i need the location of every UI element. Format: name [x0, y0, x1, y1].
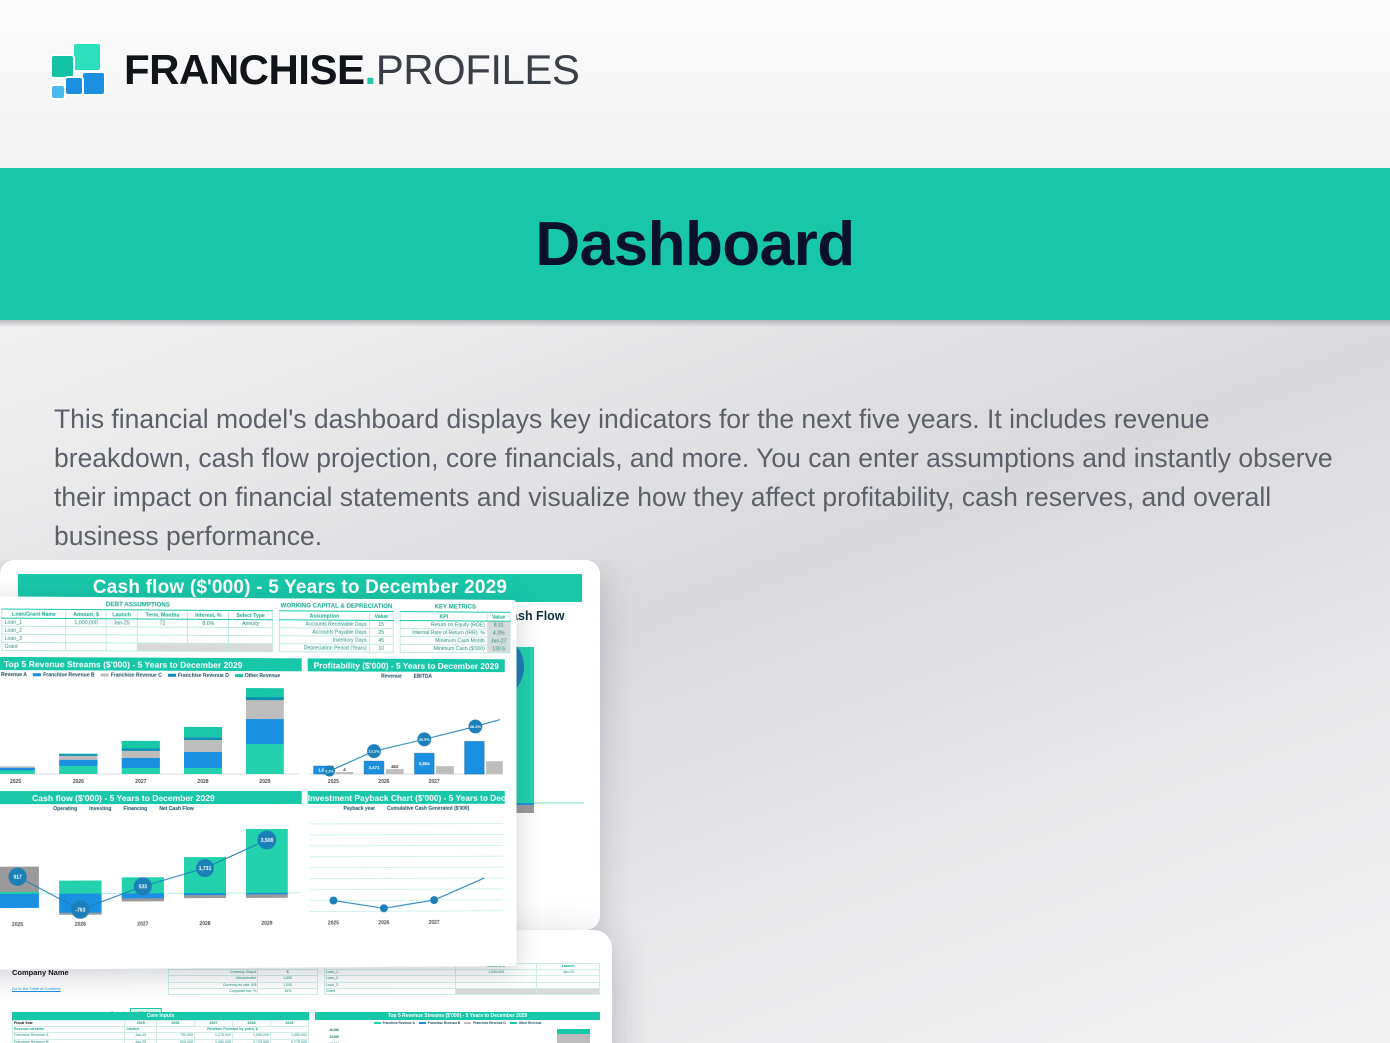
- legend-label: Investing: [89, 806, 111, 812]
- legend-item: Franchise Revenue B: [419, 1021, 460, 1025]
- mid-debt-table: Loan/Grant Name Amount, $ Launch Loan_11…: [324, 963, 600, 995]
- cashflow-plot-left: 4,0003,000 2,0001,000 -(1,000): [0, 814, 302, 931]
- svg-text:1,731: 1,731: [199, 866, 212, 872]
- cell: 130.5: [487, 645, 510, 653]
- svg-text:16,000: 16,000: [329, 1028, 339, 1032]
- table-row: Depreciation Period (Years)10: [280, 644, 394, 653]
- legend-item: Cumulative Cash Generated ($'000): [387, 806, 469, 812]
- svg-text:3,508: 3,508: [261, 838, 274, 844]
- svg-text:917: 917: [13, 875, 22, 881]
- svg-text:2026: 2026: [73, 779, 84, 785]
- svg-text:2025: 2025: [328, 920, 339, 926]
- brand-name-bold: FRANCHISE: [124, 46, 365, 93]
- svg-text:2026: 2026: [378, 779, 389, 785]
- working-capital-title: WORKING CAPITAL & DEPRECIATION: [279, 602, 394, 612]
- svg-text:13.2%: 13.2%: [368, 749, 380, 754]
- svg-text:2029: 2029: [261, 921, 272, 927]
- svg-text:4: 4: [343, 767, 346, 772]
- svg-text:2027: 2027: [135, 779, 146, 785]
- svg-text:3,471: 3,471: [369, 765, 380, 770]
- svg-text:2028: 2028: [199, 921, 210, 927]
- legend-label: Franchise Revenue B: [43, 672, 94, 678]
- cell: Minimum Cash ($'000): [400, 644, 487, 652]
- legend-item: Financing: [123, 806, 147, 812]
- logo-square-4: [66, 78, 82, 94]
- toc-link[interactable]: Go to the Table of Contents: [12, 986, 61, 991]
- legend-label: Payback year: [343, 806, 375, 812]
- working-capital-table: Assumption Value Accounts Receivable Day…: [279, 612, 394, 652]
- legend-item: Net Cash Flow: [159, 806, 194, 812]
- col-header: Value: [369, 613, 393, 621]
- legend-item: Other Revenue: [510, 1021, 542, 1025]
- table-row: Franchise Revenue BApr-25525,0001,050,00…: [13, 1039, 309, 1043]
- svg-text:20.5%: 20.5%: [419, 737, 431, 742]
- cell: 4.3%: [487, 629, 510, 637]
- svg-text:533: 533: [139, 884, 148, 890]
- svg-text:2026: 2026: [75, 922, 86, 928]
- svg-text:14,000: 14,000: [329, 1035, 339, 1039]
- svg-text:5,854: 5,854: [419, 761, 430, 766]
- debt-assumptions-table: Loan/Grant Name Amount, $ Launch Term, M…: [1, 611, 273, 653]
- svg-text:2028: 2028: [197, 779, 208, 785]
- svg-text:0.2%: 0.2%: [325, 770, 334, 774]
- page-header: FRANCHISE.PROFILES: [0, 0, 1390, 168]
- cell: 25: [369, 628, 393, 636]
- legend-label: Operating: [53, 806, 77, 812]
- svg-text:2025: 2025: [328, 779, 339, 785]
- table-row: Grant: [2, 642, 273, 651]
- cell: 45: [369, 636, 393, 644]
- legend-item: Franchise Revenue C: [101, 672, 162, 678]
- key-metrics-title: KEY METRICS: [400, 603, 511, 613]
- svg-text:2025: 2025: [10, 779, 21, 785]
- cell: 1,050,000: [195, 1039, 233, 1043]
- legend-label: Franchise Revenue B: [428, 1021, 460, 1025]
- five-squares-logo-icon: [52, 42, 110, 98]
- legend-item: Franchise Revenue A: [0, 672, 27, 678]
- top5-revenue-plot: 16,00014,000 12,00010,000 8,0006,000 4,0…: [0, 680, 302, 787]
- cell: 1,000,000: [66, 618, 106, 626]
- legend-item: Investing: [89, 806, 111, 812]
- legend-item: EBITDA: [414, 674, 432, 680]
- key-metrics-table: KPI Value Return on Equity (ROE)8.31 Int…: [400, 613, 511, 653]
- brand-logo: FRANCHISE.PROFILES: [52, 42, 579, 98]
- page-title: Dashboard: [535, 209, 854, 280]
- legend-item: Franchise Revenue D: [464, 1021, 505, 1025]
- svg-text:2027: 2027: [429, 920, 440, 926]
- page-description: This financial model's dashboard display…: [54, 400, 1342, 556]
- legend-label: Franchise Revenue D: [473, 1021, 505, 1025]
- banner-shadow: [0, 320, 1390, 327]
- svg-text:-763: -763: [75, 908, 85, 914]
- payback-chart-left[interactable]: Investment Payback Chart ($'000) - 5 Yea…: [308, 791, 505, 929]
- cell: Apr-25: [125, 1039, 157, 1043]
- profitability-plot: 1,575 4 3,471 452 5,854 0.2% 13.2: [308, 681, 505, 787]
- brand-wordmark: FRANCHISE.PROFILES: [124, 46, 579, 94]
- legend-item: Other Revenue: [235, 673, 280, 679]
- logo-square-5: [52, 86, 64, 98]
- cell: 10: [369, 644, 393, 652]
- cell: 72: [137, 619, 188, 627]
- table-row: Minimum Cash ($'000)130.5: [400, 644, 510, 652]
- debt-assumptions-title: DEBT ASSUMPTIONS: [1, 600, 273, 611]
- mid-top5-band: Top 5 Revenue Streams ($'000) - 5 Years …: [315, 1012, 600, 1020]
- svg-text:2026: 2026: [378, 920, 389, 926]
- legend-label: Net Cash Flow: [159, 806, 194, 812]
- legend-item: Franchise Revenue A: [374, 1021, 415, 1025]
- cell: Jun-27: [487, 637, 510, 645]
- cell: 8.31: [487, 621, 510, 629]
- legend-label: EBITDA: [414, 674, 432, 680]
- top5-revenue-title: Top 5 Revenue Streams ($'000) - 5 Years …: [0, 657, 302, 672]
- legend-label: Revenue: [381, 674, 402, 680]
- logo-square-2: [52, 56, 73, 77]
- col-header: Launch: [106, 611, 137, 619]
- legend-label: Other Revenue: [245, 673, 280, 679]
- legend-label: Other Revenue: [519, 1021, 542, 1025]
- payback-plot-left: 202520262027: [308, 814, 505, 929]
- cashflow-chart-left[interactable]: Cash flow ($'000) - 5 Years to December …: [0, 791, 302, 931]
- svg-text:2027: 2027: [137, 921, 148, 927]
- mid-top5-plot: 16,00014,00012,000 10,0008,0006,000 4,00…: [315, 1026, 600, 1043]
- legend-label: Financing: [123, 806, 147, 812]
- legend-label: Franchise Revenue D: [178, 673, 229, 679]
- core-inputs-band: Core Inputs: [12, 1012, 309, 1020]
- legend-label: Franchise Revenue A: [383, 1021, 415, 1025]
- logo-square-3: [83, 73, 104, 94]
- cell: Grant: [325, 988, 456, 994]
- cell: Jan-25: [106, 619, 137, 627]
- svg-text:2027: 2027: [429, 779, 440, 785]
- profitability-title: Profitability ($'000) - 5 Years to Decem…: [308, 658, 505, 672]
- legend-label: Franchise Revenue C: [111, 673, 162, 679]
- payback-title-left: Investment Payback Chart ($'000) - 5 Yea…: [308, 791, 505, 804]
- cell: 525,000: [157, 1039, 195, 1043]
- cell: Annuity: [229, 619, 273, 627]
- col-header: Value: [487, 614, 510, 622]
- cell: 2,775,000: [270, 1039, 308, 1043]
- top5-revenue-chart[interactable]: Top 5 Revenue Streams ($'000) - 5 Years …: [0, 657, 302, 787]
- left-dashboard-preview[interactable]: & TAX $ $ 1,000 1,000 15% DEBT ASSUMPTIO…: [0, 596, 516, 970]
- legend-item: Operating: [53, 806, 77, 812]
- brand-dot: .: [365, 46, 376, 93]
- legend-label: Franchise Revenue A: [0, 672, 27, 678]
- svg-text:26.3%: 26.3%: [470, 724, 481, 729]
- legend-label: Cumulative Cash Generated ($'000): [387, 806, 469, 812]
- cell: Depreciation Period (Years): [280, 644, 370, 652]
- section-banner: Dashboard: [0, 168, 1390, 320]
- svg-text:452: 452: [391, 764, 399, 769]
- cashflow-title-left: Cash flow ($'000) - 5 Years to December …: [0, 791, 302, 804]
- brand-name-light: PROFILES: [376, 46, 580, 93]
- legend-item: Payback year: [343, 806, 375, 812]
- core-inputs-table: Fiscal Year 2025 2026 2027 2028 2029 Rev…: [12, 1020, 309, 1043]
- legend-item: Franchise Revenue D: [168, 673, 229, 679]
- cell: 8.0%: [188, 619, 229, 627]
- dashboard-showcase: & TAX $ $ 1,000 1,000 15% DEBT ASSUMPTIO…: [0, 560, 1390, 1043]
- svg-text:2029: 2029: [259, 779, 270, 785]
- svg-text:2025: 2025: [12, 922, 23, 928]
- cell: 1,725,000: [232, 1039, 270, 1043]
- payback-legend-left: Payback year Cumulative Cash Generated (…: [308, 804, 505, 814]
- logo-square-1: [74, 44, 100, 70]
- legend-item: Revenue: [381, 674, 402, 680]
- cell: Grant: [2, 642, 66, 650]
- cell: Franchise Revenue B: [13, 1039, 125, 1043]
- cell: 15: [369, 620, 393, 628]
- cashflow-legend-left: Operating Investing Financing Net Cash F…: [0, 804, 302, 814]
- profitability-chart[interactable]: Profitability ($'000) - 5 Years to Decem…: [308, 658, 505, 787]
- legend-item: Franchise Revenue B: [33, 672, 95, 678]
